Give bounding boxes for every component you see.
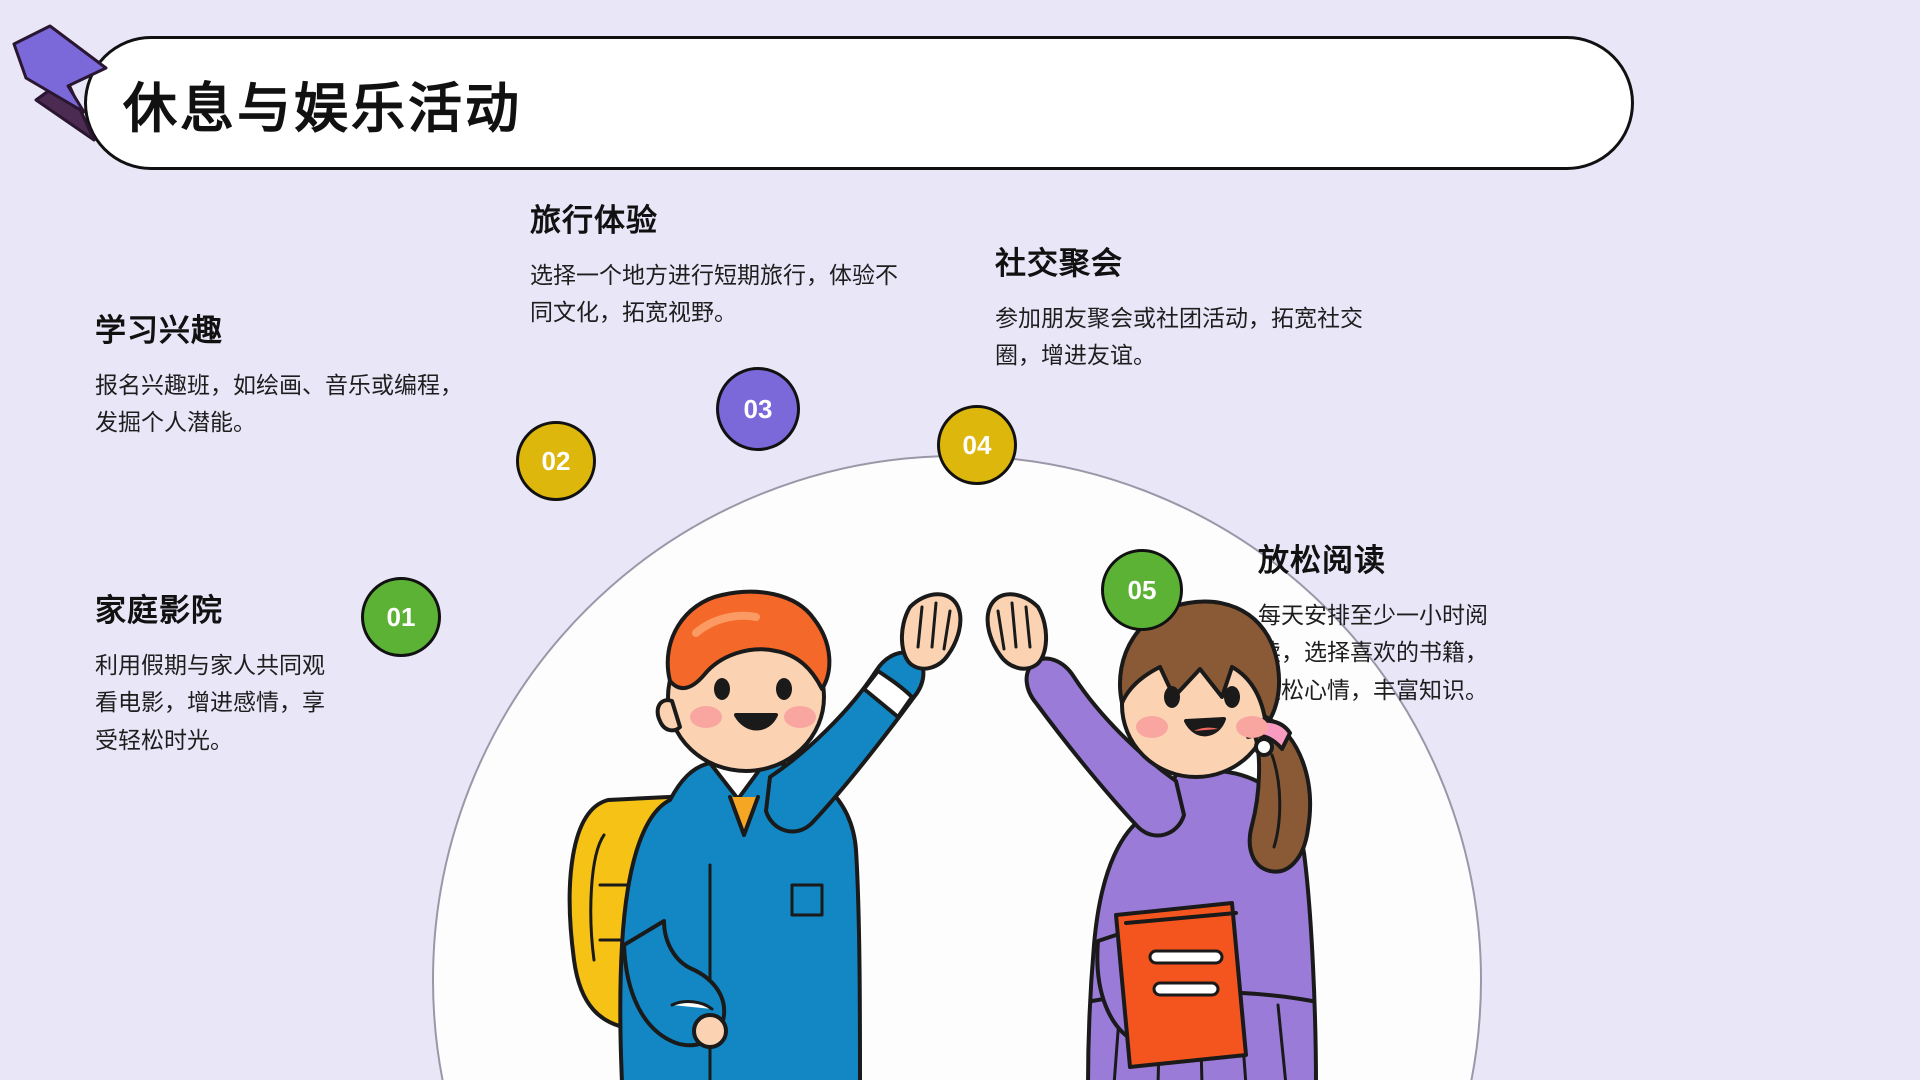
step-body-04: 参加朋友聚会或社团活动，拓宽社交圈，增进友谊。: [995, 300, 1365, 375]
step-body-03: 选择一个地方进行短期旅行，体验不同文化，拓宽视野。: [530, 257, 910, 332]
step-heading-01: 家庭影院: [95, 585, 345, 630]
slide-canvas: 休息与娱乐活动 01 02 03 04 05 学习兴趣 报名兴趣班，如绘画、音乐…: [0, 0, 1920, 1080]
step-badge-02-label: 02: [542, 446, 571, 477]
step-badge-04-label: 04: [963, 430, 992, 461]
slide-title-card: 休息与娱乐活动: [84, 36, 1634, 170]
step-badge-05-label: 05: [1128, 575, 1157, 606]
step-badge-02[interactable]: 02: [516, 421, 596, 501]
step-badge-01-label: 01: [387, 602, 416, 633]
step-badge-05[interactable]: 05: [1101, 549, 1183, 631]
step-badge-04[interactable]: 04: [937, 405, 1017, 485]
step-badge-03[interactable]: 03: [716, 367, 800, 451]
two-students-high-five-illustration: [560, 585, 1390, 1080]
step-heading-03: 旅行体验: [530, 195, 910, 240]
step-heading-04: 社交聚会: [995, 238, 1365, 283]
step-text-01: 家庭影院 利用假期与家人共同观看电影，增进感情，享受轻松时光。: [95, 585, 345, 759]
step-badge-01[interactable]: 01: [361, 577, 441, 657]
step-text-04: 社交聚会 参加朋友聚会或社团活动，拓宽社交圈，增进友谊。: [995, 238, 1365, 375]
step-heading-05: 放松阅读: [1258, 535, 1508, 580]
step-body-02: 报名兴趣班，如绘画、音乐或编程，发掘个人潜能。: [95, 367, 485, 442]
step-badge-03-label: 03: [744, 394, 773, 425]
step-text-02: 学习兴趣 报名兴趣班，如绘画、音乐或编程，发掘个人潜能。: [95, 305, 485, 442]
page-title: 休息与娱乐活动: [123, 64, 522, 143]
step-heading-02: 学习兴趣: [95, 305, 485, 350]
pushpin-icon: [6, 16, 126, 146]
step-body-01: 利用假期与家人共同观看电影，增进感情，享受轻松时光。: [95, 647, 345, 759]
step-text-03: 旅行体验 选择一个地方进行短期旅行，体验不同文化，拓宽视野。: [530, 195, 910, 332]
